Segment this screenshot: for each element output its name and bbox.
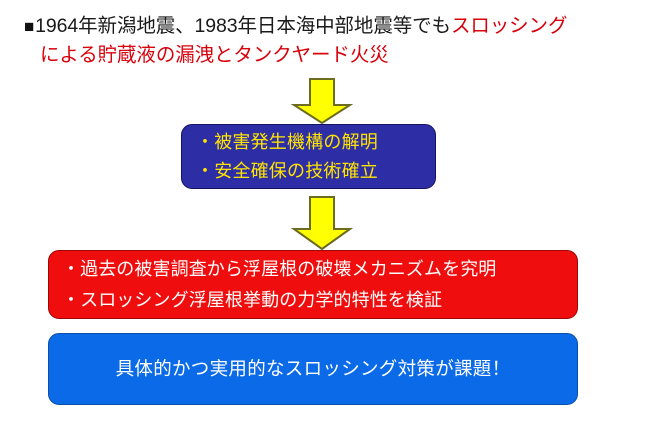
down-arrow-icon-heading-to-objectives — [291, 78, 353, 124]
objectives-line-2: ・安全確保の技術確立 — [196, 157, 435, 186]
down-arrow-icon-objectives-to-approach — [291, 196, 353, 250]
objectives-line-1: ・被害発生機構の解明 — [196, 128, 435, 157]
approach-box: ・過去の被害調査から浮屋根の破壊メカニズムを究明 ・スロッシング浮屋根挙動の力学… — [48, 250, 578, 319]
conclusion-line-1: 具体的かつ実用的なスロッシング対策が課題！ — [116, 356, 511, 382]
slide-canvas: ■1964年新潟地震、1983年日本海中部地震等でもスロッシング による貯蔵液の… — [0, 0, 650, 423]
square-bullet-icon: ■ — [24, 17, 34, 36]
heading-line-1: ■1964年新潟地震、1983年日本海中部地震等でもスロッシング — [24, 12, 634, 41]
objectives-box: ・被害発生機構の解明 ・安全確保の技術確立 — [181, 124, 436, 189]
approach-line-2: ・スロッシング浮屋根挙動の力学的特性を検証 — [62, 285, 577, 316]
slide-heading: ■1964年新潟地震、1983年日本海中部地震等でもスロッシング による貯蔵液の… — [24, 12, 634, 69]
heading-line-1-black-text: 1964年新潟地震、1983年日本海中部地震等でも — [35, 15, 451, 37]
heading-line-1-red-text: スロッシング — [451, 15, 567, 37]
heading-line-2-red-text: による貯蔵液の漏洩とタンクヤード火災 — [24, 41, 634, 69]
approach-line-1: ・過去の被害調査から浮屋根の破壊メカニズムを究明 — [62, 254, 577, 285]
conclusion-box: 具体的かつ実用的なスロッシング対策が課題！ — [48, 333, 578, 405]
